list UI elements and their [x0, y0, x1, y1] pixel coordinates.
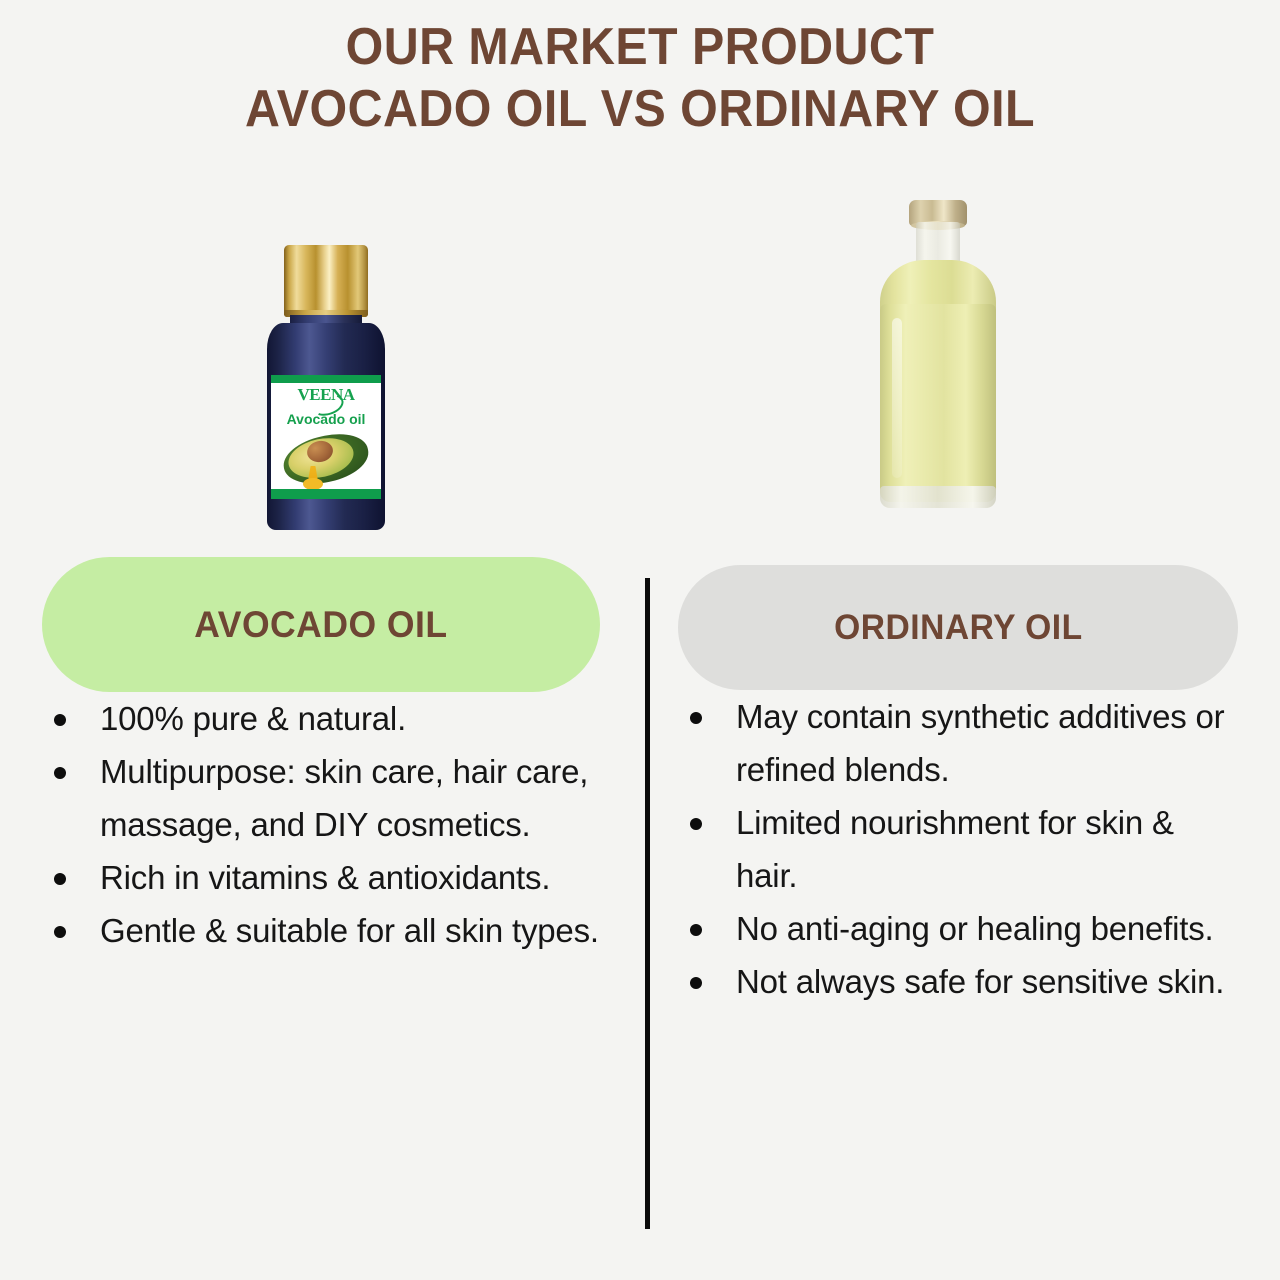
glass-highlight	[892, 318, 902, 478]
avocado-oil-feature-list: 100% pure & natural. Multipurpose: skin …	[42, 692, 600, 957]
avocado-oil-heading-pill: AVOCADO OIL	[42, 557, 600, 692]
avocado-fruit-icon	[279, 430, 373, 488]
bottle-cap-gold-icon	[284, 245, 368, 317]
label-product-name: Avocado oil	[271, 411, 381, 427]
avocado-oil-heading-text: AVOCADO OIL	[194, 604, 447, 646]
list-item: Not always safe for sensitive skin.	[678, 955, 1238, 1008]
list-item: May contain synthetic additives or refin…	[678, 690, 1238, 796]
glass-bottom	[880, 486, 996, 508]
avocado-oil-column: AVOCADO OIL 100% pure & natural. Multipu…	[42, 557, 600, 957]
ordinary-oil-heading-text: ORDINARY OIL	[834, 608, 1082, 648]
label-top-bar	[271, 375, 381, 383]
list-item: 100% pure & natural.	[42, 692, 600, 745]
list-item: No anti-aging or healing benefits.	[678, 902, 1238, 955]
ordinary-oil-bottle-image	[862, 200, 1014, 525]
title-line-2: AVOCADO OIL VS ORDINARY OIL	[45, 78, 1235, 140]
product-images-row: VEENA Avocado oil	[0, 190, 1280, 540]
column-divider	[645, 578, 650, 1229]
label-bottom-bar	[271, 489, 381, 499]
list-item: Rich in vitamins & antioxidants.	[42, 851, 600, 904]
ordinary-oil-column: ORDINARY OIL May contain synthetic addit…	[678, 557, 1238, 1008]
page-title: OUR MARKET PRODUCT AVOCADO OIL VS ORDINA…	[0, 16, 1280, 140]
ordinary-oil-heading-pill: ORDINARY OIL	[678, 565, 1238, 690]
bottle-label: VEENA Avocado oil	[271, 375, 381, 499]
list-item: Multipurpose: skin care, hair care, mass…	[42, 745, 600, 851]
avocado-oil-bottle-image: VEENA Avocado oil	[265, 245, 387, 530]
list-item: Gentle & suitable for all skin types.	[42, 904, 600, 957]
list-item: Limited nourishment for skin & hair.	[678, 796, 1238, 902]
title-line-1: OUR MARKET PRODUCT	[45, 16, 1235, 78]
brand-logo: VEENA	[271, 386, 381, 403]
ordinary-oil-feature-list: May contain synthetic additives or refin…	[678, 690, 1238, 1008]
